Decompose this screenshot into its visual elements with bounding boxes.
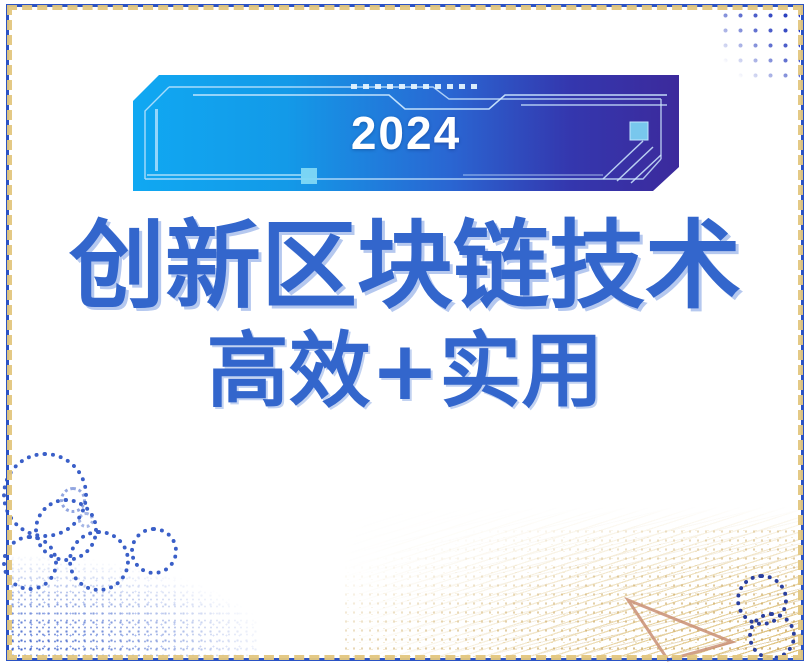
page-subtitle: 高效+实用 (0, 330, 810, 414)
dot-grid-decoration (716, 6, 800, 84)
dotted-circle-decoration (2, 535, 58, 591)
dotted-circle-decoration (78, 512, 94, 528)
triangle-outline-decoration (620, 592, 740, 662)
dotted-circle-decoration (68, 530, 130, 592)
dotted-circle-decoration (748, 612, 796, 660)
poster-canvas: 2024 创新区块链技术 高效+实用 (0, 0, 810, 665)
banner-graphic (133, 75, 679, 191)
dotted-circle-decoration (60, 487, 86, 513)
tech-banner: 2024 (133, 75, 679, 191)
page-title: 创新区块链技术 (0, 218, 810, 316)
dotted-circle-decoration (130, 527, 178, 575)
headline-block: 创新区块链技术 高效+实用 (0, 218, 810, 414)
